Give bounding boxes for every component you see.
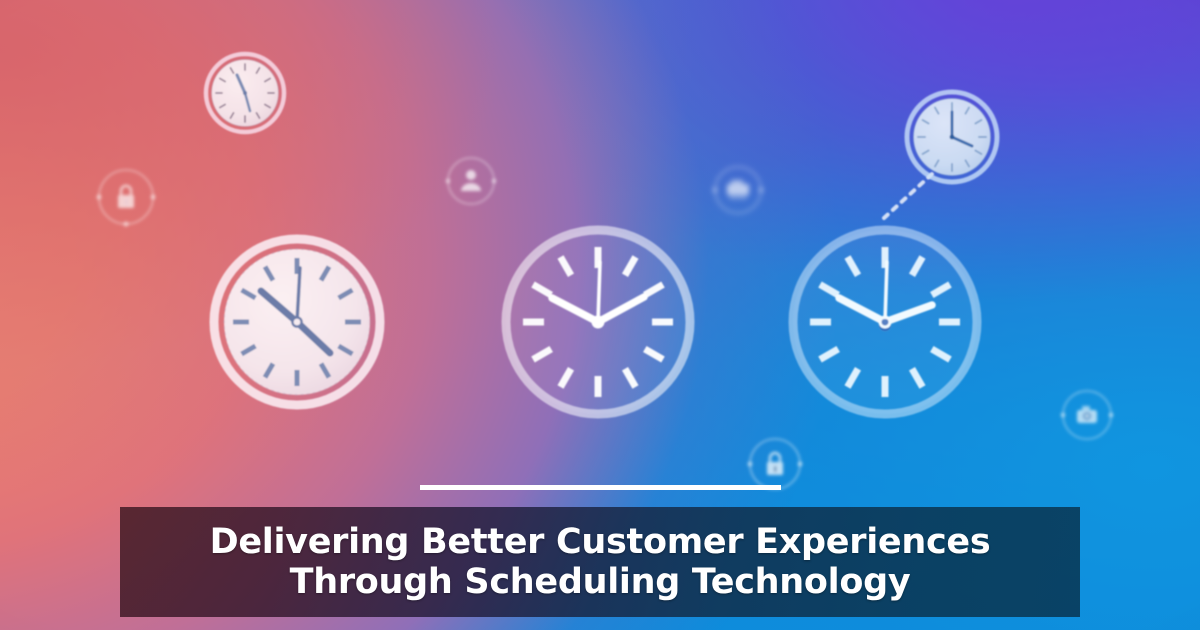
clock-small-top-right [907,92,997,182]
page-title: Delivering Better Customer Experiences T… [120,522,1080,603]
clock-large-left [214,239,380,405]
connector-clock-diagonal [884,174,932,218]
title-divider-rule [420,485,781,490]
calendar-badge-center [713,167,764,213]
user-icon [461,170,481,191]
clock-large-right [793,230,977,414]
lock-badge-left [96,170,155,227]
page-title-line-2: Through Scheduling Technology [134,562,1066,602]
lock-badge-bottom [748,439,803,489]
clock-small-top-left [206,54,284,132]
lock-icon [118,186,134,208]
user-badge-center [446,158,497,204]
clock-large-center [506,230,690,414]
banner-canvas: Delivering Better Customer Experiences T… [0,0,1200,630]
calendar-icon [727,180,749,199]
camera-icon [1077,406,1097,423]
page-title-line-1: Delivering Better Customer Experiences [134,522,1066,562]
title-banner: Delivering Better Customer Experiences T… [120,507,1080,617]
camera-badge-right [1061,391,1114,439]
lock-icon [767,453,783,475]
